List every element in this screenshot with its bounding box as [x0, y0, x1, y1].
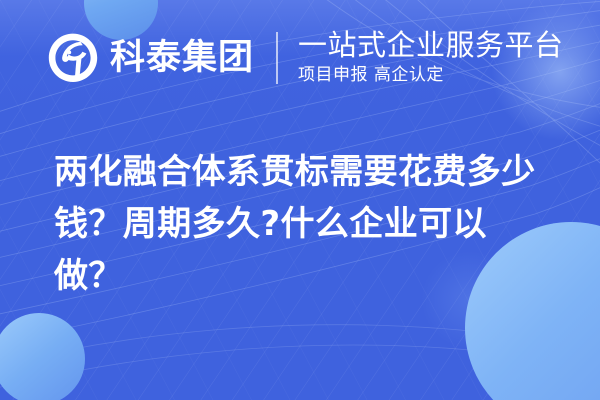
page-title: 两化融合体系贯标需要花费多少钱？周期多久?什么企业可以做？	[54, 146, 554, 302]
header-divider	[276, 32, 278, 84]
tagline-block: 一站式企业服务平台 项目申报 高企认定	[298, 30, 564, 86]
title-area: 两化融合体系贯标需要花费多少钱？周期多久?什么企业可以做？	[54, 146, 554, 302]
ketai-circle-logo-icon	[47, 32, 99, 84]
tagline-main: 一站式企业服务平台	[298, 30, 564, 61]
banner-header: 科泰集团 一站式企业服务平台 项目申报 高企认定	[0, 18, 600, 98]
brand-name: 科泰集团	[110, 41, 254, 76]
promo-banner: 科泰集团 一站式企业服务平台 项目申报 高企认定 两化融合体系贯标需要花费多少钱…	[0, 0, 600, 400]
decorative-circle-bottom-left	[0, 313, 85, 400]
tagline-sub: 项目申报 高企认定	[298, 65, 564, 86]
